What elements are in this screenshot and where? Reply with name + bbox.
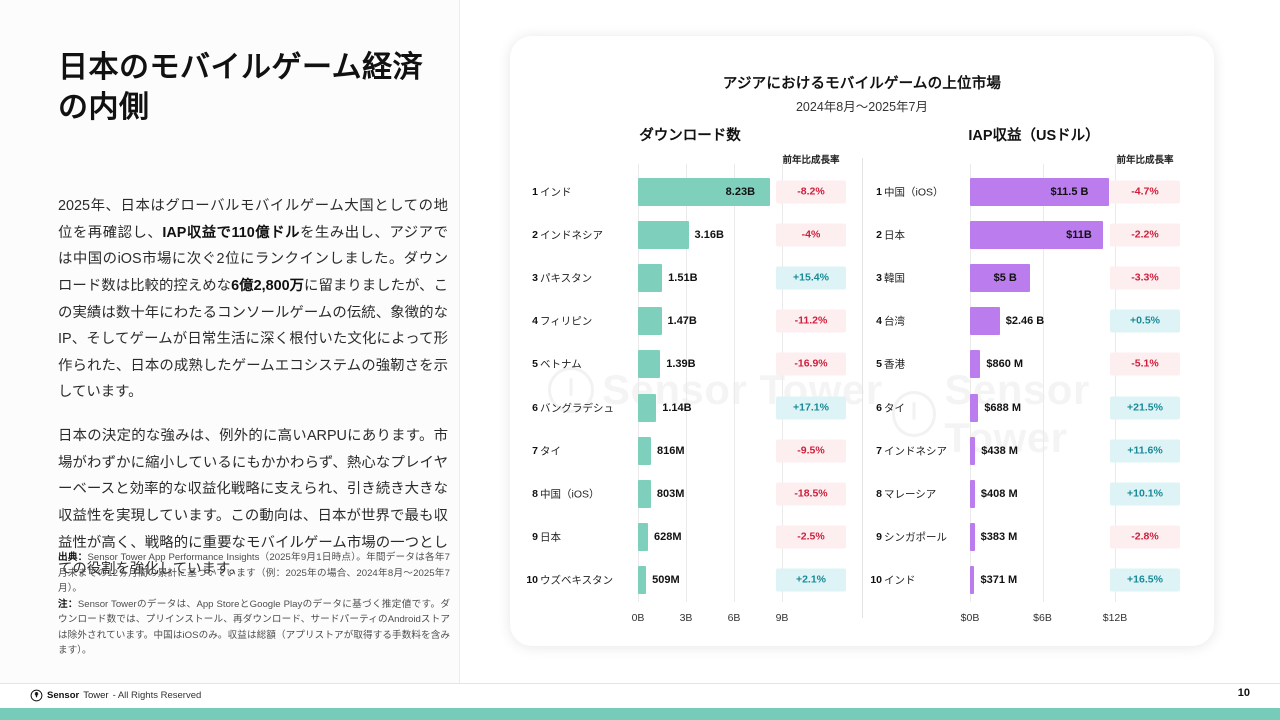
row-country-label: タイ	[884, 400, 905, 415]
yoy-badge: -4%	[776, 223, 846, 246]
axis-tick-label: $0B	[948, 612, 992, 624]
bar-value-label: 803M	[657, 488, 685, 500]
value-bar	[970, 394, 978, 422]
chart-row[interactable]: 2日本$11B-2.2%	[862, 213, 1206, 256]
row-rank: 2	[862, 229, 882, 241]
footer-brand-light: Tower	[83, 690, 108, 701]
chart-row[interactable]: 6バングラデシュ1.14B+17.1%	[518, 386, 862, 429]
bar-value-label: 1.51B	[668, 272, 697, 284]
yoy-badge: -3.3%	[1110, 266, 1180, 289]
accent-bar	[0, 708, 1280, 720]
row-rank: 9	[518, 531, 538, 543]
chart-row[interactable]: 3韓国$5 B-3.3%	[862, 256, 1206, 299]
row-rank: 6	[518, 402, 538, 414]
page-title: 日本のモバイルゲーム経済の内側	[58, 48, 448, 128]
value-bar	[970, 350, 980, 378]
chart-row[interactable]: 7タイ816M-9.5%	[518, 429, 862, 472]
value-bar	[638, 480, 651, 508]
yoy-badge: -2.8%	[1110, 526, 1180, 549]
value-bar	[970, 480, 975, 508]
yoy-badge: -5.1%	[1110, 353, 1180, 376]
downloads-panel: ダウンロード数 前年比成長率0B3B6B9B1インド8.23B-8.2%2インド…	[518, 124, 862, 624]
value-bar	[970, 566, 974, 594]
bar-value-label: 509M	[652, 574, 680, 586]
yoy-badge: +11.6%	[1110, 439, 1180, 462]
bar-value-label: 1.47B	[668, 315, 697, 327]
body-copy: 2025年、日本はグローバルモバイルゲーム大国としての地位を再確認し、IAP収益…	[58, 193, 448, 600]
revenue-panel-title: IAP収益（USドル）	[862, 124, 1206, 145]
value-bar	[638, 350, 660, 378]
row-country-label: 香港	[884, 357, 905, 372]
row-rank: 7	[518, 445, 538, 457]
yoy-badge: +2.1%	[776, 569, 846, 592]
bar-value-label: $5 B	[994, 272, 1017, 284]
yoy-badge: +17.1%	[776, 396, 846, 419]
body-paragraph: 2025年、日本はグローバルモバイルゲーム大国としての地位を再確認し、IAP収益…	[58, 193, 448, 406]
row-rank: 10	[518, 574, 538, 586]
value-bar	[638, 221, 689, 249]
footnote-note: 注：Sensor Towerのデータは、App StoreとGoogle Pla…	[58, 597, 450, 659]
chart-row[interactable]: 3パキスタン1.51B+15.4%	[518, 256, 862, 299]
row-rank: 5	[862, 358, 882, 370]
yoy-badge: +0.5%	[1110, 310, 1180, 333]
footnote-source: 出典：Sensor Tower App Performance Insights…	[58, 550, 450, 597]
value-bar	[638, 264, 662, 292]
row-country-label: フィリピン	[540, 314, 592, 329]
bar-value-label: $860 M	[986, 358, 1023, 370]
page-number: 10	[1238, 687, 1250, 699]
downloads-panel-title: ダウンロード数	[518, 124, 862, 145]
value-bar	[970, 523, 975, 551]
bar-value-label: $408 M	[981, 488, 1018, 500]
value-bar	[638, 523, 648, 551]
chart-row[interactable]: 5ベトナム1.39B-16.9%	[518, 343, 862, 386]
row-country-label: インドネシア	[540, 227, 603, 242]
footnote-note-label: 注：	[58, 599, 78, 610]
value-bar	[970, 437, 975, 465]
row-country-label: インド	[540, 184, 572, 199]
chart-row[interactable]: 8マレーシア$408 M+10.1%	[862, 472, 1206, 515]
yoy-column-header: 前年比成長率	[1110, 152, 1180, 166]
yoy-badge: +15.4%	[776, 266, 846, 289]
value-bar	[638, 566, 646, 594]
chart-row[interactable]: 7インドネシア$438 M+11.6%	[862, 429, 1206, 472]
row-country-label: インド	[884, 573, 916, 588]
row-country-label: 韓国	[884, 270, 905, 285]
bar-value-label: $371 M	[980, 574, 1017, 586]
footnote-note-text: Sensor Towerのデータは、App StoreとGoogle Playの…	[58, 599, 450, 657]
left-text-panel: 日本のモバイルゲーム経済の内側 2025年、日本はグローバルモバイルゲーム大国と…	[0, 0, 460, 684]
chart-row[interactable]: 4フィリピン1.47B-11.2%	[518, 300, 862, 343]
bar-value-label: 628M	[654, 531, 682, 543]
footnote-block: 出典：Sensor Tower App Performance Insights…	[58, 550, 450, 659]
value-bar	[970, 307, 1000, 335]
bar-value-label: 816M	[657, 445, 685, 457]
bar-value-label: 8.23B	[726, 186, 755, 198]
row-rank: 7	[862, 445, 882, 457]
footer: SensorTower - All Rights Reserved 10	[0, 683, 1280, 708]
row-rank: 5	[518, 358, 538, 370]
axis-tick-label: 9B	[760, 612, 804, 624]
row-country-label: 日本	[884, 227, 905, 242]
footnote-source-text: Sensor Tower App Performance Insights（20…	[58, 552, 450, 594]
revenue-panel: IAP収益（USドル） 前年比成長率$0B$6B$12B1中国（iOS）$11.…	[862, 124, 1206, 624]
yoy-badge: -2.2%	[1110, 223, 1180, 246]
bar-value-label: $11B	[1066, 229, 1092, 241]
yoy-badge: +21.5%	[1110, 396, 1180, 419]
chart-row[interactable]: 2インドネシア3.16B-4%	[518, 213, 862, 256]
chart-row[interactable]: 4台湾$2.46 B+0.5%	[862, 300, 1206, 343]
chart-row[interactable]: 8中国（iOS）803M-18.5%	[518, 472, 862, 515]
row-country-label: 台湾	[884, 314, 905, 329]
row-rank: 3	[518, 272, 538, 284]
footer-brand: SensorTower - All Rights Reserved	[30, 689, 201, 702]
chart-row[interactable]: 9シンガポール$383 M-2.8%	[862, 516, 1206, 559]
yoy-badge: +10.1%	[1110, 482, 1180, 505]
chart-rows: 1インド8.23B-8.2%2インドネシア3.16B-4%3パキスタン1.51B…	[518, 170, 862, 602]
slide: 日本のモバイルゲーム経済の内側 2025年、日本はグローバルモバイルゲーム大国と…	[0, 0, 1280, 720]
row-rank: 1	[518, 186, 538, 198]
axis-tick-label: 3B	[664, 612, 708, 624]
bar-value-label: $11.5 B	[1051, 186, 1089, 198]
chart-subtitle: 2024年8月〜2025年7月	[510, 96, 1214, 115]
footnote-source-label: 出典：	[58, 552, 87, 563]
yoy-badge: -9.5%	[776, 439, 846, 462]
value-bar	[638, 437, 651, 465]
row-country-label: ベトナム	[540, 357, 582, 372]
footer-rights: - All Rights Reserved	[113, 690, 202, 701]
yoy-badge: -2.5%	[776, 526, 846, 549]
row-country-label: バングラデシュ	[540, 400, 614, 415]
chart-row[interactable]: 9日本628M-2.5%	[518, 516, 862, 559]
footer-brand-bold: Sensor	[47, 690, 79, 701]
chart-rows: 1中国（iOS）$11.5 B-4.7%2日本$11B-2.2%3韓国$5 B-…	[862, 170, 1206, 602]
bar-value-label: $688 M	[984, 402, 1021, 414]
body-text: に留まりましたが、この実績は数十年にわたるコンソールゲームの伝統、象徴的なIP、…	[58, 278, 448, 401]
chart-row[interactable]: 1中国（iOS）$11.5 B-4.7%	[862, 170, 1206, 213]
bar-value-label: 1.14B	[662, 402, 691, 414]
row-rank: 2	[518, 229, 538, 241]
chart-row[interactable]: 5香港$860 M-5.1%	[862, 343, 1206, 386]
row-country-label: シンガポール	[884, 530, 947, 545]
value-bar	[638, 394, 656, 422]
axis-tick-label: $6B	[1021, 612, 1065, 624]
yoy-column-header: 前年比成長率	[776, 152, 846, 166]
body-emphasis: 6億2,800万	[231, 278, 304, 294]
row-rank: 9	[862, 531, 882, 543]
row-country-label: 中国（iOS）	[884, 184, 944, 199]
yoy-badge: -8.2%	[776, 180, 846, 203]
sensor-tower-logo-icon	[30, 689, 43, 702]
row-rank: 10	[862, 574, 882, 586]
row-rank: 3	[862, 272, 882, 284]
row-country-label: ウズベキスタン	[540, 573, 613, 588]
chart-row[interactable]: 1インド8.23B-8.2%	[518, 170, 862, 213]
row-country-label: タイ	[540, 443, 561, 458]
bar-value-label: 1.39B	[666, 358, 695, 370]
yoy-badge: +16.5%	[1110, 569, 1180, 592]
value-bar	[638, 307, 662, 335]
row-country-label: インドネシア	[884, 443, 947, 458]
axis-tick-label: 6B	[712, 612, 756, 624]
row-country-label: パキスタン	[540, 270, 592, 285]
row-rank: 4	[862, 315, 882, 327]
body-emphasis: IAP収益で110億ドル	[162, 225, 300, 241]
chart-row[interactable]: 10ウズベキスタン509M+2.1%	[518, 559, 862, 602]
yoy-badge: -11.2%	[776, 310, 846, 333]
yoy-badge: -4.7%	[1110, 180, 1180, 203]
row-rank: 4	[518, 315, 538, 327]
yoy-badge: -16.9%	[776, 353, 846, 376]
bar-value-label: $383 M	[981, 531, 1018, 543]
chart-row[interactable]: 10インド$371 M+16.5%	[862, 559, 1206, 602]
row-rank: 8	[862, 488, 882, 500]
bar-value-label: $438 M	[981, 445, 1018, 457]
axis-tick-label: $12B	[1093, 612, 1137, 624]
yoy-badge: -18.5%	[776, 482, 846, 505]
row-rank: 6	[862, 402, 882, 414]
chart-row[interactable]: 6タイ$688 M+21.5%	[862, 386, 1206, 429]
row-rank: 1	[862, 186, 882, 198]
bar-value-label: 3.16B	[695, 229, 724, 241]
chart-card: アジアにおけるモバイルゲームの上位市場 2024年8月〜2025年7月 Sens…	[510, 36, 1214, 646]
bar-value-label: $2.46 B	[1006, 315, 1045, 327]
row-country-label: 中国（iOS）	[540, 486, 600, 501]
axis-tick-label: 0B	[616, 612, 660, 624]
row-country-label: 日本	[540, 530, 561, 545]
row-country-label: マレーシア	[884, 486, 936, 501]
chart-title: アジアにおけるモバイルゲームの上位市場	[510, 72, 1214, 93]
row-rank: 8	[518, 488, 538, 500]
